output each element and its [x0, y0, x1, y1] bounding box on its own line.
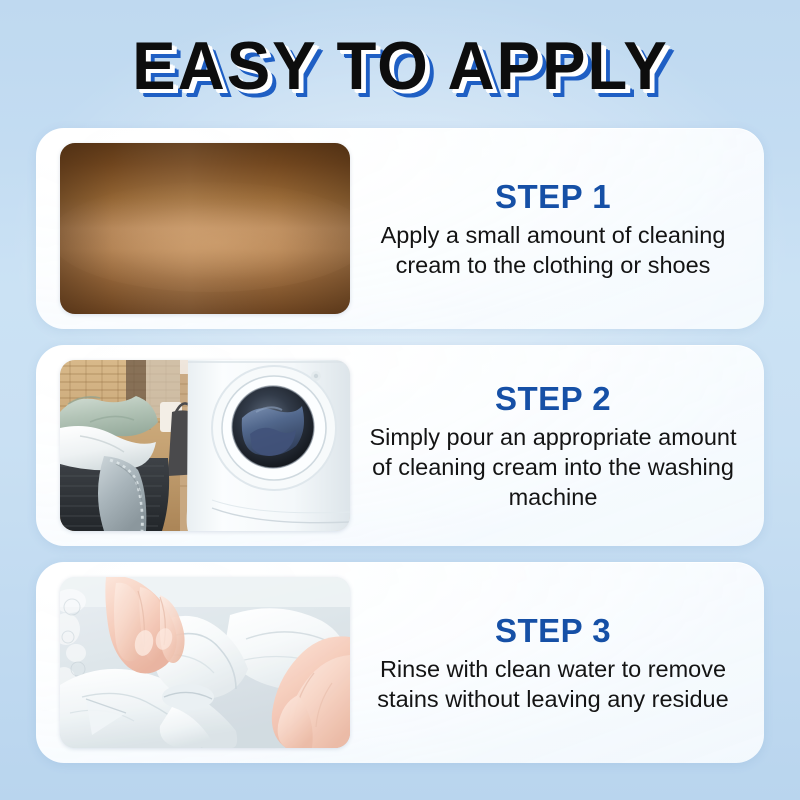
step-1-description: Apply a small amount of cleaning cream t…: [364, 220, 742, 280]
step-card-2[interactable]: STEP 2 Simply pour an appropriate amount…: [36, 345, 764, 546]
page-title: EASY TO APPLY: [132, 32, 669, 100]
cleaning-cream-closeup-photo-icon: [60, 143, 350, 314]
step-3-description: Rinse with clean water to remove stains …: [364, 654, 742, 714]
step-2-body: STEP 2 Simply pour an appropriate amount…: [350, 380, 748, 512]
header: EASY TO APPLY: [0, 0, 800, 128]
step-3-body: STEP 3 Rinse with clean water to remove …: [350, 612, 748, 714]
step-2-thumbnail: [60, 360, 350, 531]
washing-machine-laundry-photo-icon: [60, 360, 350, 531]
step-card-3[interactable]: STEP 3 Rinse with clean water to remove …: [36, 562, 764, 763]
step-1-thumbnail: [60, 143, 350, 314]
step-3-thumbnail: [60, 577, 350, 748]
step-2-description: Simply pour an appropriate amount of cle…: [364, 422, 742, 512]
step-1-heading: STEP 1: [495, 178, 611, 216]
step-1-body: STEP 1 Apply a small amount of cleaning …: [350, 178, 748, 280]
step-2-heading: STEP 2: [495, 380, 611, 418]
step-card-1[interactable]: STEP 1 Apply a small amount of cleaning …: [36, 128, 764, 329]
step-3-heading: STEP 3: [495, 612, 611, 650]
title-wrap: EASY TO APPLY: [121, 30, 680, 102]
steps-list: STEP 1 Apply a small amount of cleaning …: [0, 128, 800, 763]
hands-rinsing-white-fabric-photo-icon: [60, 577, 350, 748]
